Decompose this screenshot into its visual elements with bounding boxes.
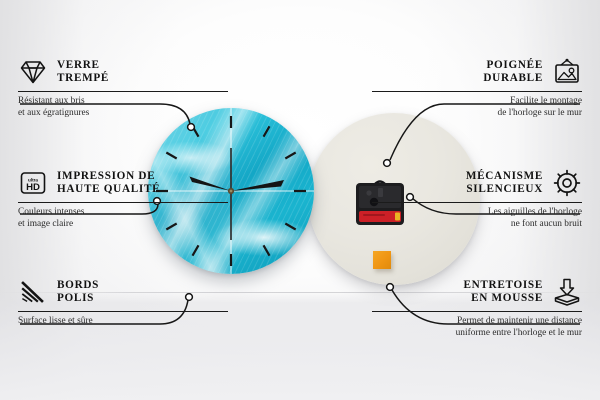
feature-entretoise-en-mousse: ENTRETOISE EN MOUSSE Permet de maintenir… (372, 277, 582, 340)
divider (18, 202, 228, 203)
feature-subtitle: Permet de maintenir une distance uniform… (372, 316, 582, 339)
title-line-2: HAUTE QUALITÉ (57, 183, 160, 196)
title-line-1: VERRE (57, 59, 109, 72)
subtitle-line-1: Facilite le montage (372, 96, 582, 108)
feature-title: IMPRESSION DE HAUTE QUALITÉ (57, 170, 160, 197)
title-line-1: IMPRESSION DE (57, 170, 160, 183)
subtitle-line-1: Résistant aux bris (18, 96, 228, 108)
feature-mecanisme-silencieux: MÉCANISME SILENCIEUX Les aiguilles de l'… (372, 168, 582, 231)
divider (18, 311, 228, 312)
foam-spacer-icon (552, 277, 582, 307)
feature-title: VERRE TREMPÉ (57, 59, 109, 86)
feature-subtitle: Résistant aux bris et aux égratignures (18, 96, 228, 119)
feature-title: BORDS POLIS (57, 279, 99, 306)
title-line-1: POIGNÉE (483, 59, 543, 72)
title-line-2: EN MOUSSE (463, 292, 543, 305)
subtitle-line-2: et image claire (18, 219, 228, 231)
feature-title: POIGNÉE DURABLE (483, 59, 543, 86)
ultra-hd-icon: ultra HD (18, 168, 48, 198)
title-line-2: DURABLE (483, 72, 543, 85)
title-line-2: SILENCIEUX (466, 183, 543, 196)
subtitle-line-1: Couleurs intenses (18, 207, 228, 219)
infographic-canvas: VERRE TREMPÉ Résistant aux bris et aux é… (0, 0, 600, 400)
title-line-2: POLIS (57, 292, 99, 305)
gear-icon (552, 168, 582, 198)
subtitle-line-1: Permet de maintenir une distance (372, 316, 582, 328)
feature-subtitle: Couleurs intenses et image claire (18, 207, 228, 230)
feature-subtitle: Surface lisse et sûre (18, 316, 228, 328)
feature-impression-haute-qualite: ultra HD IMPRESSION DE HAUTE QUALITÉ Cou… (18, 168, 228, 231)
feature-title: MÉCANISME SILENCIEUX (466, 170, 543, 197)
divider (372, 311, 582, 312)
title-line-1: MÉCANISME (466, 170, 543, 183)
feature-subtitle: Les aiguilles de l'horloge ne font aucun… (372, 207, 582, 230)
polished-edges-icon (18, 277, 48, 307)
divider (18, 91, 228, 92)
feature-subtitle: Facilite le montage de l'horloge sur le … (372, 96, 582, 119)
diamond-icon (18, 57, 48, 87)
divider (372, 202, 582, 203)
title-line-2: TREMPÉ (57, 72, 109, 85)
subtitle-line-2: ne font aucun bruit (372, 219, 582, 231)
subtitle-line-1: Surface lisse et sûre (18, 316, 228, 328)
feature-bords-polis: BORDS POLIS Surface lisse et sûre (18, 277, 228, 328)
subtitle-line-2: de l'horloge sur le mur (372, 108, 582, 120)
feature-title: ENTRETOISE EN MOUSSE (463, 279, 543, 306)
feature-verre-trempe: VERRE TREMPÉ Résistant aux bris et aux é… (18, 57, 228, 120)
feature-poignee-durable: POIGNÉE DURABLE Facilite le montage de l… (372, 57, 582, 120)
title-line-1: BORDS (57, 279, 99, 292)
title-line-1: ENTRETOISE (463, 279, 543, 292)
ultra-hd-large-text: HD (26, 182, 40, 193)
subtitle-line-1: Les aiguilles de l'horloge (372, 207, 582, 219)
divider (372, 91, 582, 92)
minute-hand (231, 180, 284, 191)
subtitle-line-2: et aux égratignures (18, 108, 228, 120)
picture-hanger-icon (552, 57, 582, 87)
foam-spacer-sample (373, 251, 391, 269)
subtitle-line-2: uniforme entre l'horloge et le mur (372, 328, 582, 340)
